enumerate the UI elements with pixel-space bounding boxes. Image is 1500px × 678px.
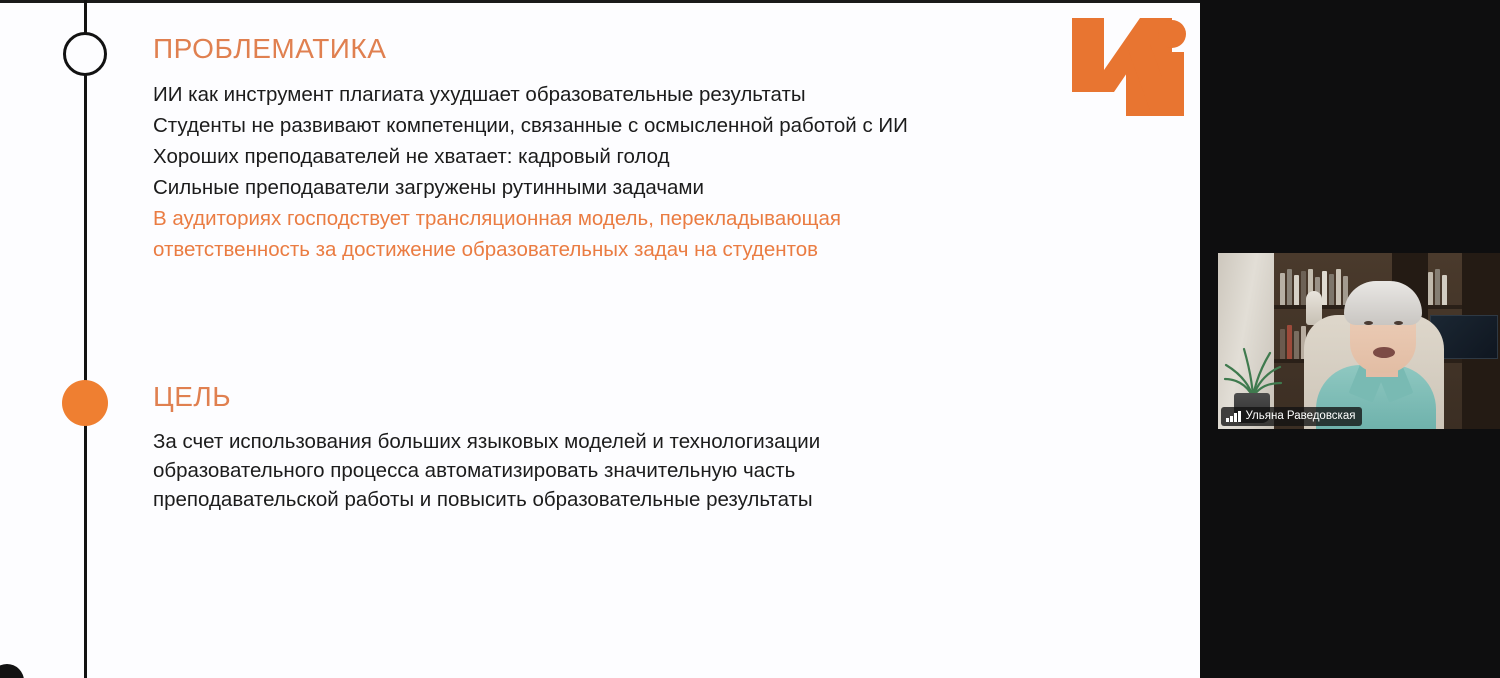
background-plant — [1222, 341, 1284, 399]
list-item: В аудиториях господствует трансляционная… — [153, 203, 908, 265]
list-item: Студенты не развивают компетенции, связа… — [153, 110, 908, 141]
problem-heading: ПРОБЛЕМАТИКА — [153, 34, 908, 65]
section-problem: ПРОБЛЕМАТИКА ИИ как инструмент плагиата … — [153, 34, 908, 265]
shelf-books — [1428, 267, 1447, 305]
shared-presentation-slide[interactable]: ПРОБЛЕМАТИКА ИИ как инструмент плагиата … — [0, 0, 1200, 678]
timeline-spine — [84, 0, 87, 678]
goal-body-text: За счет использования больших языковых м… — [153, 427, 820, 514]
list-item: Сильные преподаватели загружены рутинным… — [153, 172, 908, 203]
signal-strength-icon — [1226, 411, 1241, 422]
list-item: Хороших преподавателей не хватает: кадро… — [153, 141, 908, 172]
participant-hair — [1344, 281, 1422, 325]
problem-bullet-list: ИИ как инструмент плагиата ухудшает обра… — [153, 79, 908, 265]
participant-video-tile[interactable]: Ульяна Раведовская — [1218, 253, 1500, 429]
participant-name-label: Ульяна Раведовская — [1246, 409, 1356, 423]
list-item: ИИ как инструмент плагиата ухудшает обра… — [153, 79, 908, 110]
goal-heading: ЦЕЛЬ — [153, 382, 820, 413]
participant-name-badge: Ульяна Раведовская — [1221, 407, 1362, 426]
ii-logo-icon — [1068, 8, 1188, 120]
section-goal: ЦЕЛЬ За счет использования больших языко… — [153, 382, 820, 514]
milestone-node-filled-icon — [62, 380, 108, 426]
milestone-node-bottom-icon — [0, 664, 24, 678]
participant-eye-right — [1394, 321, 1403, 325]
participant-eye-left — [1364, 321, 1373, 325]
participant-mouth — [1373, 347, 1395, 358]
meeting-screen: ПРОБЛЕМАТИКА ИИ как инструмент плагиата … — [0, 0, 1500, 678]
milestone-node-hollow-icon — [63, 32, 107, 76]
slide-top-rule — [0, 0, 1200, 3]
